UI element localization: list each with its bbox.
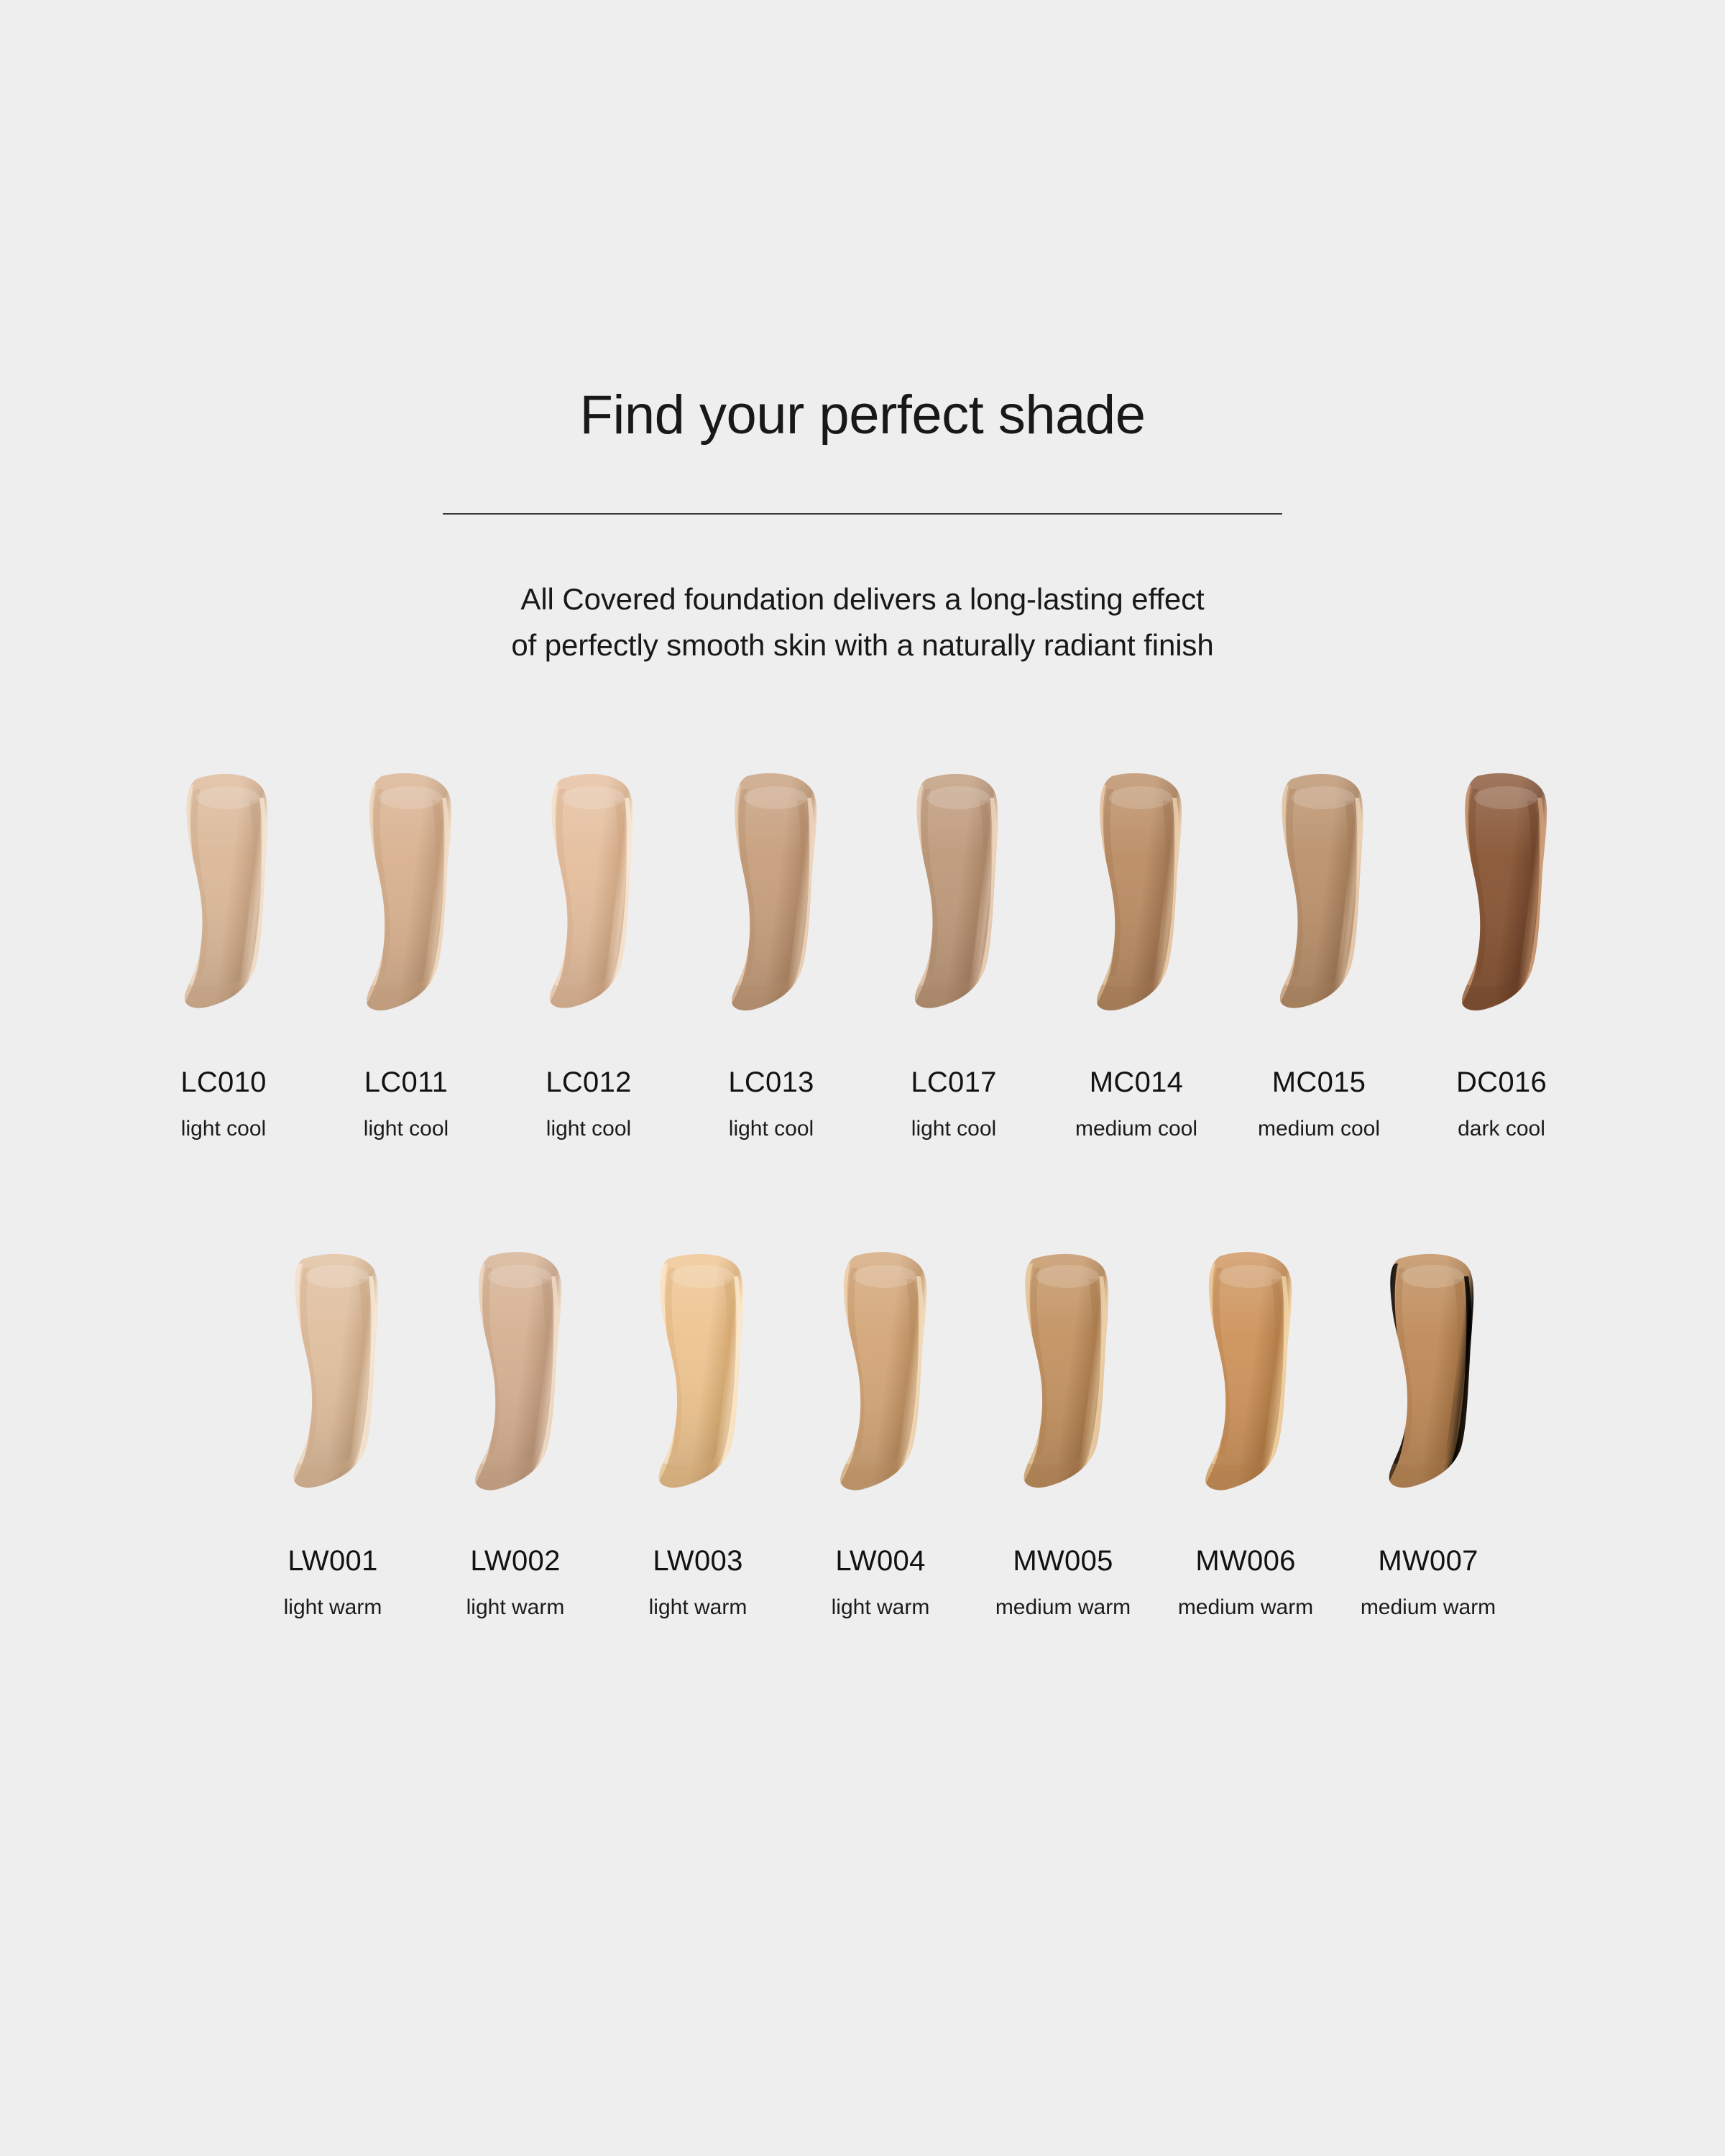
shade-item[interactable]: LW002 light warm [424, 1248, 607, 1618]
shade-item[interactable]: LW003 light warm [607, 1248, 789, 1618]
shade-swatch-graphic [1254, 769, 1384, 1028]
title-divider [443, 513, 1282, 515]
shade-tone: medium cool [1258, 1118, 1380, 1140]
shade-swatch[interactable] [315, 769, 497, 1028]
shade-swatch[interactable] [1154, 1248, 1337, 1506]
shade-item[interactable]: LC012 light cool [497, 769, 680, 1140]
shade-swatch-graphic [1437, 769, 1566, 1028]
shade-swatch-graphic [998, 1248, 1128, 1506]
subtitle-line-1: All Covered foundation delivers a long-l… [395, 576, 1330, 622]
shade-tone: light cool [911, 1118, 996, 1140]
shade-code: MW007 [1378, 1547, 1478, 1575]
shade-code: MC015 [1272, 1068, 1366, 1097]
shade-item[interactable]: MC015 medium cool [1228, 769, 1410, 1140]
shade-item[interactable]: MC014 medium cool [1045, 769, 1228, 1140]
shade-tone: medium warm [995, 1597, 1131, 1618]
subtitle-line-2: of perfectly smooth skin with a naturall… [395, 622, 1330, 668]
subtitle: All Covered foundation delivers a long-l… [395, 576, 1330, 668]
shade-code: MC014 [1090, 1068, 1183, 1097]
shade-item[interactable]: MW006 medium warm [1154, 1248, 1337, 1618]
shade-swatch-graphic [524, 769, 653, 1028]
shade-swatch[interactable] [607, 1248, 789, 1506]
shade-tone: medium cool [1075, 1118, 1197, 1140]
header: Find your perfect shade All Covered foun… [0, 0, 1725, 668]
shade-tone: light warm [832, 1597, 930, 1618]
shade-code: DC016 [1456, 1068, 1547, 1097]
shade-swatch-graphic [633, 1248, 763, 1506]
shade-item[interactable]: DC016 dark cool [1410, 769, 1593, 1140]
shade-tone: medium warm [1361, 1597, 1496, 1618]
shade-swatch[interactable] [1337, 1248, 1519, 1506]
shade-swatch[interactable] [680, 769, 862, 1028]
shade-swatch-graphic [816, 1248, 945, 1506]
shade-item[interactable]: LC010 light cool [132, 769, 315, 1140]
shade-code: LC010 [180, 1068, 266, 1097]
shade-swatch[interactable] [789, 1248, 972, 1506]
shade-tone: light warm [284, 1597, 382, 1618]
shade-grid: LC010 light cool [0, 769, 1725, 1618]
shade-code: LC011 [364, 1068, 448, 1097]
shade-item[interactable]: LC013 light cool [680, 769, 862, 1140]
shade-swatch[interactable] [497, 769, 680, 1028]
shade-swatch-graphic [707, 769, 836, 1028]
shade-tone: light cool [181, 1118, 266, 1140]
shade-item[interactable]: LW001 light warm [241, 1248, 424, 1618]
shade-item[interactable]: LW004 light warm [789, 1248, 972, 1618]
shade-tone: medium warm [1178, 1597, 1313, 1618]
shade-item[interactable]: MW005 medium warm [972, 1248, 1154, 1618]
shade-swatch[interactable] [1045, 769, 1228, 1028]
shade-row-cool: LC010 light cool [0, 769, 1725, 1140]
shade-tone: dark cool [1458, 1118, 1545, 1140]
shade-item[interactable]: MW007 medium warm [1337, 1248, 1519, 1618]
shade-finder-page: Find your perfect shade All Covered foun… [0, 0, 1725, 2156]
shade-code: LW002 [470, 1547, 560, 1575]
page-title: Find your perfect shade [0, 388, 1725, 443]
shade-swatch[interactable] [424, 1248, 607, 1506]
shade-tone: light warm [649, 1597, 747, 1618]
shade-code: LC012 [546, 1068, 631, 1097]
shade-tone: light cool [364, 1118, 448, 1140]
shade-code: LC013 [728, 1068, 814, 1097]
shade-swatch-graphic [159, 769, 288, 1028]
shade-swatch[interactable] [862, 769, 1045, 1028]
shade-code: LC017 [911, 1068, 996, 1097]
shade-swatch-graphic [451, 1248, 580, 1506]
shade-item[interactable]: LC017 light cool [862, 769, 1045, 1140]
shade-tone: light cool [729, 1118, 814, 1140]
shade-code: LW004 [835, 1547, 925, 1575]
shade-swatch-graphic [1072, 769, 1201, 1028]
shade-row-warm: LW001 light warm [0, 1248, 1725, 1618]
shade-swatch-graphic [341, 769, 471, 1028]
shade-swatch[interactable] [972, 1248, 1154, 1506]
shade-item[interactable]: LC011 light cool [315, 769, 497, 1140]
shade-code: LW001 [287, 1547, 377, 1575]
shade-code: MW006 [1195, 1547, 1295, 1575]
shade-tone: light warm [466, 1597, 565, 1618]
shade-swatch[interactable] [241, 1248, 424, 1506]
shade-code: LW003 [653, 1547, 742, 1575]
shade-code: MW005 [1013, 1547, 1113, 1575]
shade-swatch[interactable] [1228, 769, 1410, 1028]
shade-swatch-graphic [268, 1248, 397, 1506]
shade-swatch-graphic [889, 769, 1018, 1028]
shade-swatch[interactable] [132, 769, 315, 1028]
shade-swatch[interactable] [1410, 769, 1593, 1028]
shade-swatch-graphic [1181, 1248, 1310, 1506]
shade-tone: light cool [546, 1118, 631, 1140]
shade-swatch-graphic [1363, 1248, 1493, 1506]
